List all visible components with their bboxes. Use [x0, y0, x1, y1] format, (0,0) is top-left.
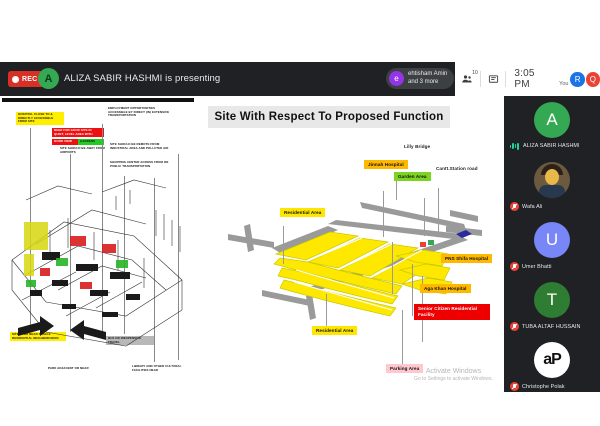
participant-name-row: TUBA ALTAF HUSSAIN	[504, 322, 600, 331]
letterbox-bottom	[0, 392, 600, 426]
sketch-note-quiet-site: NEED FOR GOOD SITE IN QUIET, LEVEL AREA …	[52, 128, 104, 137]
slide-title: Site With Respect To Proposed Function	[208, 106, 450, 128]
presenting-bar: REC A ALIZA SABIR HASHMI is presenting e…	[0, 62, 600, 96]
avatar: aP	[534, 342, 570, 378]
participant-tile[interactable]: Wafa Ali	[504, 162, 600, 211]
chat-icon[interactable]	[481, 62, 506, 96]
site-analysis-sketch: HOSPITAL CLOSE TO & DIRECTLY ACCESSIBLE …	[2, 98, 194, 390]
people-icon[interactable]: 10	[455, 62, 480, 96]
sketch-lineart	[6, 140, 190, 370]
chip-more: and 3 more	[408, 79, 447, 87]
recording-label: REC	[22, 76, 37, 83]
participant-tile[interactable]: U Umer Bhatti	[504, 222, 600, 271]
presenter-avatar: A	[38, 68, 59, 89]
participant-rail[interactable]: A ALIZA SABIR HASHMI Wafa Ali	[504, 96, 600, 392]
participant-name-row: ALIZA SABIR HASHMI	[504, 142, 600, 150]
avatar-photo	[534, 162, 570, 198]
shared-screen-stage[interactable]: HOSPITAL CLOSE TO & DIRECTLY ACCESSIBLE …	[0, 96, 504, 392]
label-leader	[402, 310, 403, 368]
label-leader	[383, 191, 384, 237]
participant-name: Christophe Polak	[522, 384, 565, 390]
participant-name-row: Umer Bhatti	[504, 262, 600, 271]
screenshot-root: REC A ALIZA SABIR HASHMI is presenting e…	[0, 0, 600, 426]
mic-muted-icon	[510, 382, 519, 391]
chip-name: ehtisham Amin	[408, 71, 447, 79]
you-label: You	[559, 81, 568, 87]
watermark-line1: Activate Windows	[414, 368, 493, 375]
label-leader	[424, 198, 425, 236]
control-divider-2	[505, 71, 506, 87]
avatar: U	[534, 222, 570, 258]
participants-chip[interactable]: e ehtisham Amin and 3 more	[386, 68, 454, 89]
avatar: T	[534, 282, 570, 318]
sketch-note-hospital: HOSPITAL CLOSE TO & DIRECTLY ACCESSIBLE …	[16, 112, 64, 125]
participant-tile[interactable]: T TUBA ALTAF HUSSAIN	[504, 282, 600, 331]
avatar	[534, 162, 570, 198]
record-dot-icon	[12, 76, 19, 83]
label-cantt-station-road: Cantt.Station road	[432, 164, 482, 173]
label-leader	[438, 188, 439, 232]
label-aga-khan-hospital: Aga Khan Hospital	[420, 284, 471, 293]
participant-name-row: Wafa Ali	[504, 202, 600, 211]
label-pns-shifa-hospital: PNS Shifa Hospital	[441, 254, 492, 263]
presenting-status-text: ALIZA SABIR HASHMI is presenting	[64, 73, 220, 84]
letterbox-top	[0, 0, 600, 62]
windows-activation-watermark: Activate Windows Go to Settings to activ…	[414, 368, 493, 382]
presentation-slide: Site With Respect To Proposed Function	[196, 98, 502, 390]
participant-name: Wafa Ali	[522, 204, 542, 210]
label-leader	[326, 294, 327, 330]
mic-muted-icon	[510, 262, 519, 271]
participant-name-row: Christophe Polak	[504, 382, 600, 391]
sketch-top-rule	[2, 98, 194, 102]
label-leader	[283, 226, 284, 264]
meet-controls-panel: 10 3:05 PM You R Q	[455, 62, 600, 96]
label-lilly-bridge: Lilly Bridge	[400, 142, 434, 151]
label-leader	[412, 264, 413, 316]
people-count: 10	[472, 70, 478, 76]
watermark-line2: Go to Settings to activate Windows.	[414, 376, 493, 382]
mic-muted-icon	[510, 202, 519, 211]
you-avatar[interactable]: R	[570, 72, 584, 87]
mic-active-icon	[510, 142, 520, 150]
label-jinnah-hospital: Jinnah Hospital	[364, 160, 408, 169]
label-leader	[392, 242, 393, 294]
participant-tile[interactable]: A ALIZA SABIR HASHMI	[504, 102, 600, 150]
sketch-note-employment: EMPLOYMENT OPPORTUNITIES ACCESSIBLE BY D…	[106, 106, 172, 119]
other-avatar[interactable]: Q	[586, 72, 600, 87]
participant-name: TUBA ALTAF HUSSAIN	[522, 324, 581, 330]
google-meet-window: REC A ALIZA SABIR HASHMI is presenting e…	[0, 62, 600, 392]
label-residential-area-bottom: Residential Area	[312, 326, 357, 335]
label-senior-citizen-facility: Senior Citizen Residential Facility	[414, 304, 490, 320]
chip-avatar: e	[389, 71, 404, 86]
participant-name: Umer Bhatti	[522, 264, 552, 270]
clock: 3:05 PM	[514, 68, 551, 90]
avatar: A	[534, 102, 570, 138]
label-garden-area: Garden Area	[394, 172, 431, 181]
mic-muted-icon	[510, 322, 519, 331]
label-residential-area-top: Residential Area	[280, 208, 325, 217]
participant-tile[interactable]: aP Christophe Polak	[504, 342, 600, 391]
participant-name: ALIZA SABIR HASHMI	[523, 143, 580, 149]
